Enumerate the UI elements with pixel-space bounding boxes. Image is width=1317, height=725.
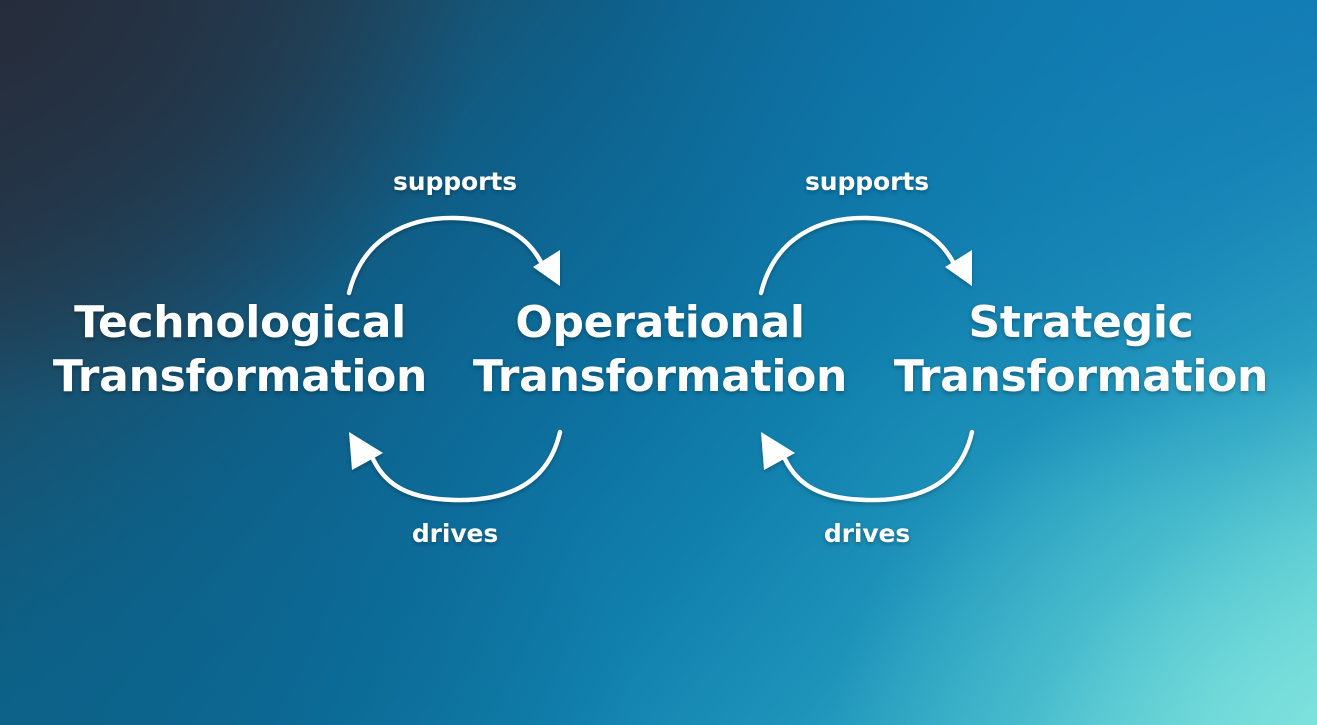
edge-tech-supports-ops	[349, 218, 560, 293]
edge-arc-strategic-drives-ops	[785, 432, 972, 500]
diagram-canvas: Technological Transformation Operational…	[0, 0, 1317, 725]
node-strategic-transformation: Strategic Transformation	[881, 296, 1281, 403]
node-strategic-line-2: Transformation	[881, 350, 1281, 404]
node-operational-line-2: Transformation	[460, 350, 860, 404]
node-technological-transformation: Technological Transformation	[40, 296, 440, 403]
node-operational-line-1: Operational	[460, 296, 860, 350]
edge-label-ops-supports-strategic: supports	[767, 169, 967, 194]
edge-arc-ops-drives-tech	[373, 432, 560, 500]
node-operational-transformation: Operational Transformation	[460, 296, 860, 403]
node-strategic-line-1: Strategic	[881, 296, 1281, 350]
node-technological-line-2: Transformation	[40, 350, 440, 404]
edge-label-tech-supports-ops: supports	[355, 169, 555, 194]
edge-label-ops-drives-tech: drives	[355, 521, 555, 546]
edge-strategic-drives-ops	[761, 432, 972, 500]
edge-arc-ops-supports-strategic	[761, 218, 953, 293]
edge-arc-tech-supports-ops	[349, 218, 541, 293]
edge-label-strategic-drives-ops: drives	[767, 521, 967, 546]
node-technological-line-1: Technological	[40, 296, 440, 350]
edge-ops-drives-tech	[349, 432, 560, 500]
edge-ops-supports-strategic	[761, 218, 972, 293]
